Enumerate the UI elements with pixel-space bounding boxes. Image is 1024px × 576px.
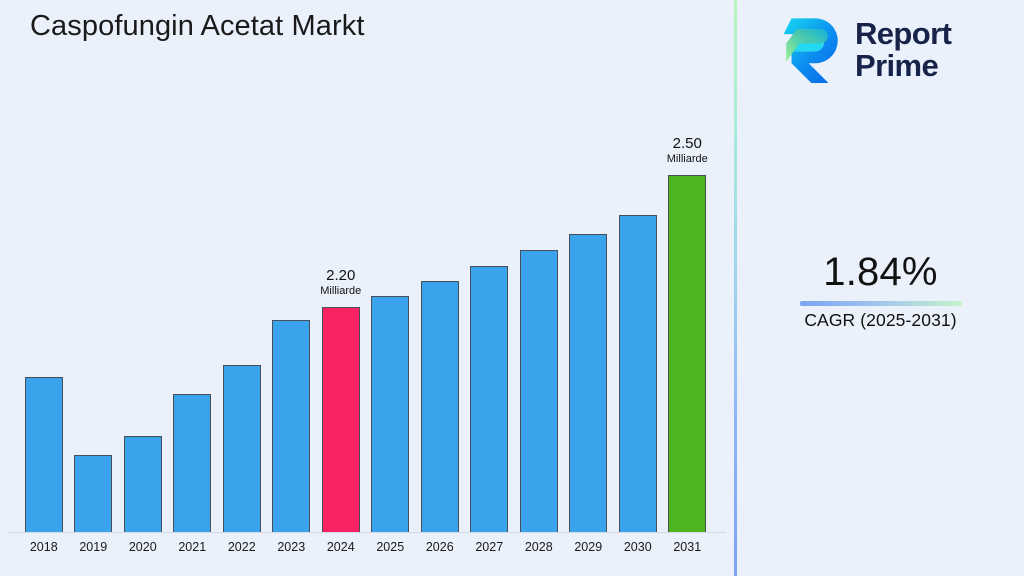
bar-2027: [470, 266, 508, 532]
bar-2029: [569, 234, 607, 532]
bar-2024: [322, 307, 360, 532]
x-axis-line: [8, 532, 726, 533]
cagr-value: 1.84%: [737, 252, 1024, 292]
bar-2026: [421, 281, 459, 532]
info-panel: Report Prime 1.84% CAGR (2025-2031): [737, 0, 1024, 576]
brand-name-line2: Prime: [855, 50, 951, 82]
bar-2031: [668, 175, 706, 532]
bar-2022: [223, 365, 261, 532]
bar-2021: [173, 394, 211, 532]
brand-name-line1: Report: [855, 16, 951, 51]
bar-2020: [124, 436, 162, 532]
brand-name: Report Prime: [855, 18, 951, 82]
x-tick-2031: 2031: [657, 540, 717, 554]
bar-2030: [619, 215, 657, 532]
chart-panel: Caspofungin Acetat Markt 2.20Milliarde2.…: [0, 0, 735, 576]
bar-value-label-2024: 2.20Milliarde: [281, 267, 401, 298]
bar-unit-2031: Milliarde: [627, 153, 747, 166]
bar-value-2024: 2.20: [281, 267, 401, 285]
bar-2018: [25, 377, 63, 532]
report-prime-logo-icon: [777, 14, 843, 86]
bar-2019: [74, 455, 112, 532]
bar-2023: [272, 320, 310, 532]
plot-area: 2.20Milliarde2.50Milliarde 2018201920202…: [0, 0, 735, 576]
bar-2028: [520, 250, 558, 532]
cagr-divider-rule: [800, 301, 962, 306]
bar-value-label-2031: 2.50Milliarde: [627, 135, 747, 166]
bar-value-2031: 2.50: [627, 135, 747, 153]
cagr-caption: CAGR (2025-2031): [737, 310, 1024, 331]
chart-page: Caspofungin Acetat Markt 2.20Milliarde2.…: [0, 0, 1024, 576]
brand-lockup: Report Prime: [777, 14, 951, 86]
bar-2025: [371, 296, 409, 532]
cagr-block: 1.84% CAGR (2025-2031): [737, 252, 1024, 331]
